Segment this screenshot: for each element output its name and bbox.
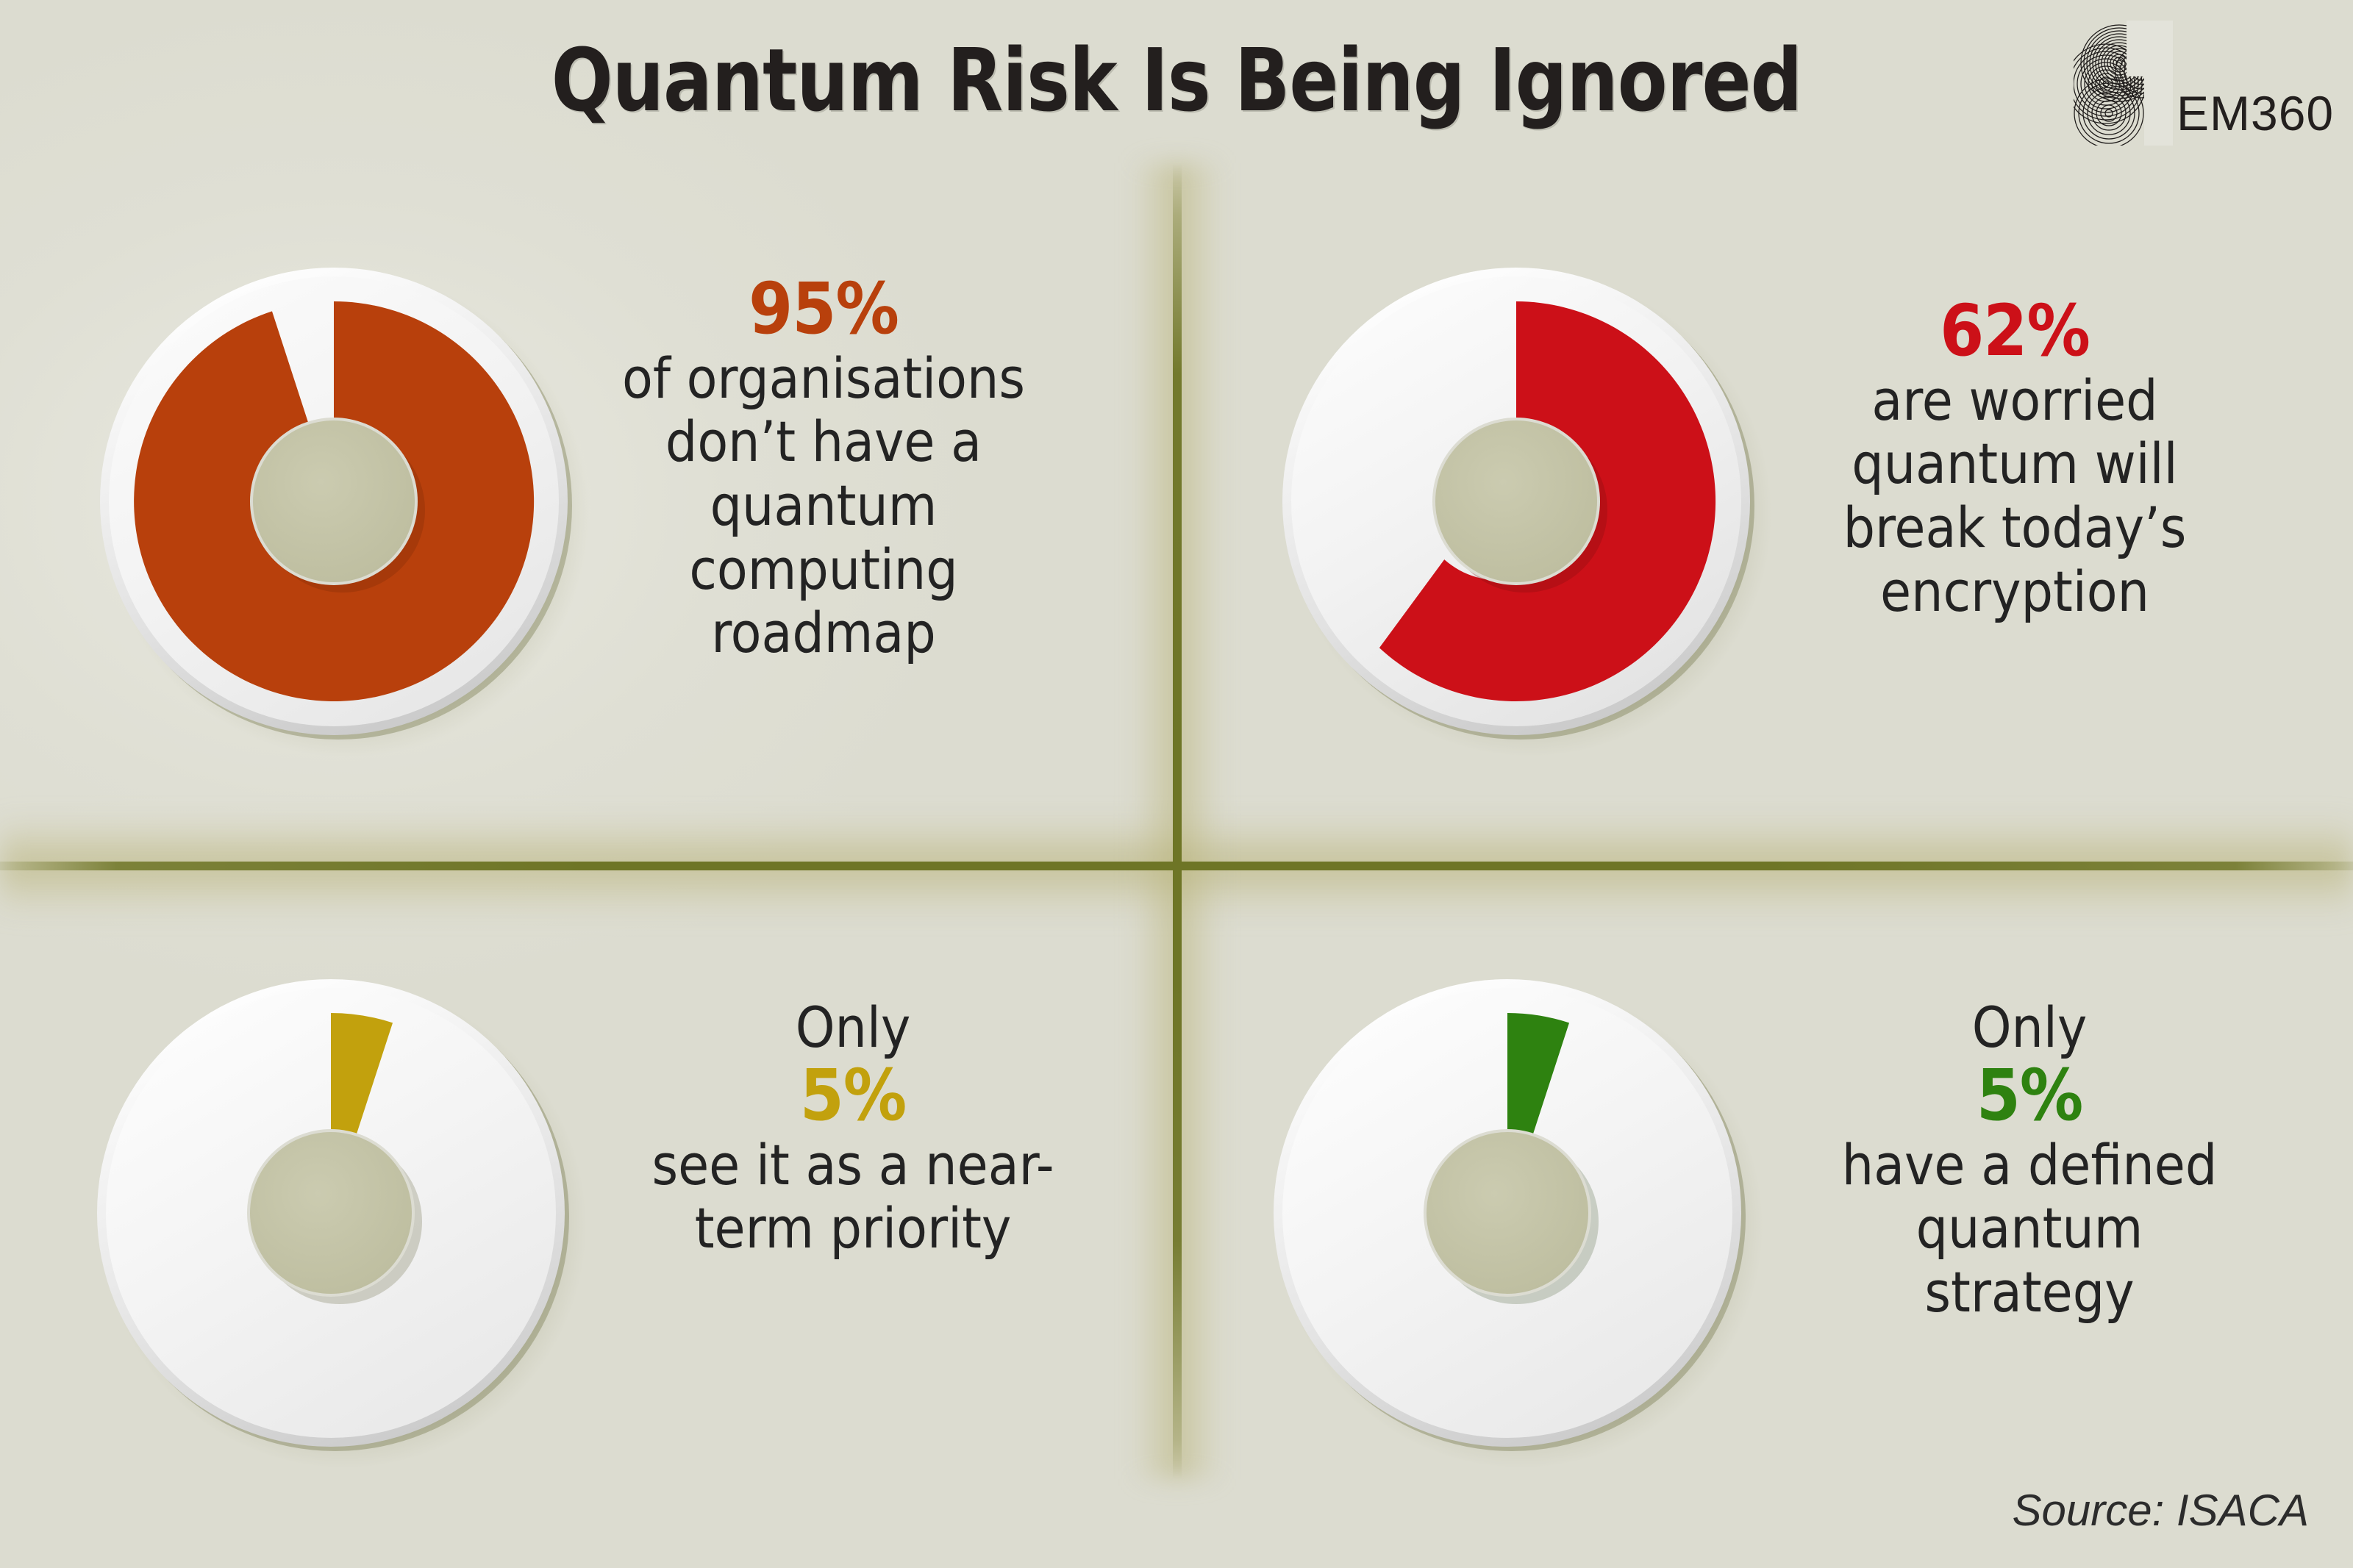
logo-wordmark: EM360 [2177,85,2334,141]
stat-block-priority: Only 5% see it as a near-term priority [632,996,1074,1261]
stat-lead-priority: Only [632,996,1074,1059]
donut-chart-5-gold [74,956,588,1470]
stat-percent-priority: 5% [632,1059,1074,1134]
page-title: Quantum Risk Is Being Ignored [82,29,2271,131]
stat-percent-encryption: 62% [1779,294,2250,369]
stat-body-strategy: have a defined quantum strategy [1809,1134,2250,1325]
donut-chart-95 [76,244,591,759]
infographic-canvas: Quantum Risk Is Being Ignored [0,0,2353,1568]
stat-block-strategy: Only 5% have a defined quantum strategy [1809,996,2250,1325]
em360-concentric-arcs-logo [2074,21,2173,146]
donut-chart-62 [1259,244,1774,759]
stat-body-roadmap: of organisations don’t have a quantum co… [581,347,1066,665]
brand-logo: EM360 [2074,21,2331,149]
stat-percent-roadmap: 95% [581,272,1066,347]
stat-block-roadmap: 95% of organisations don’t have a quantu… [581,272,1066,665]
stat-percent-strategy: 5% [1809,1059,2250,1134]
stat-body-priority: see it as a near-term priority [632,1134,1074,1261]
donut-chart-5-green [1250,956,1765,1470]
stat-lead-strategy: Only [1809,996,2250,1059]
vertical-divider [1173,163,1182,1479]
stat-body-encryption: are worried quantum will break today’s e… [1779,369,2250,624]
source-attribution: Source: ISACA [2012,1485,2309,1536]
stat-block-encryption: 62% are worried quantum will break today… [1779,294,2250,623]
